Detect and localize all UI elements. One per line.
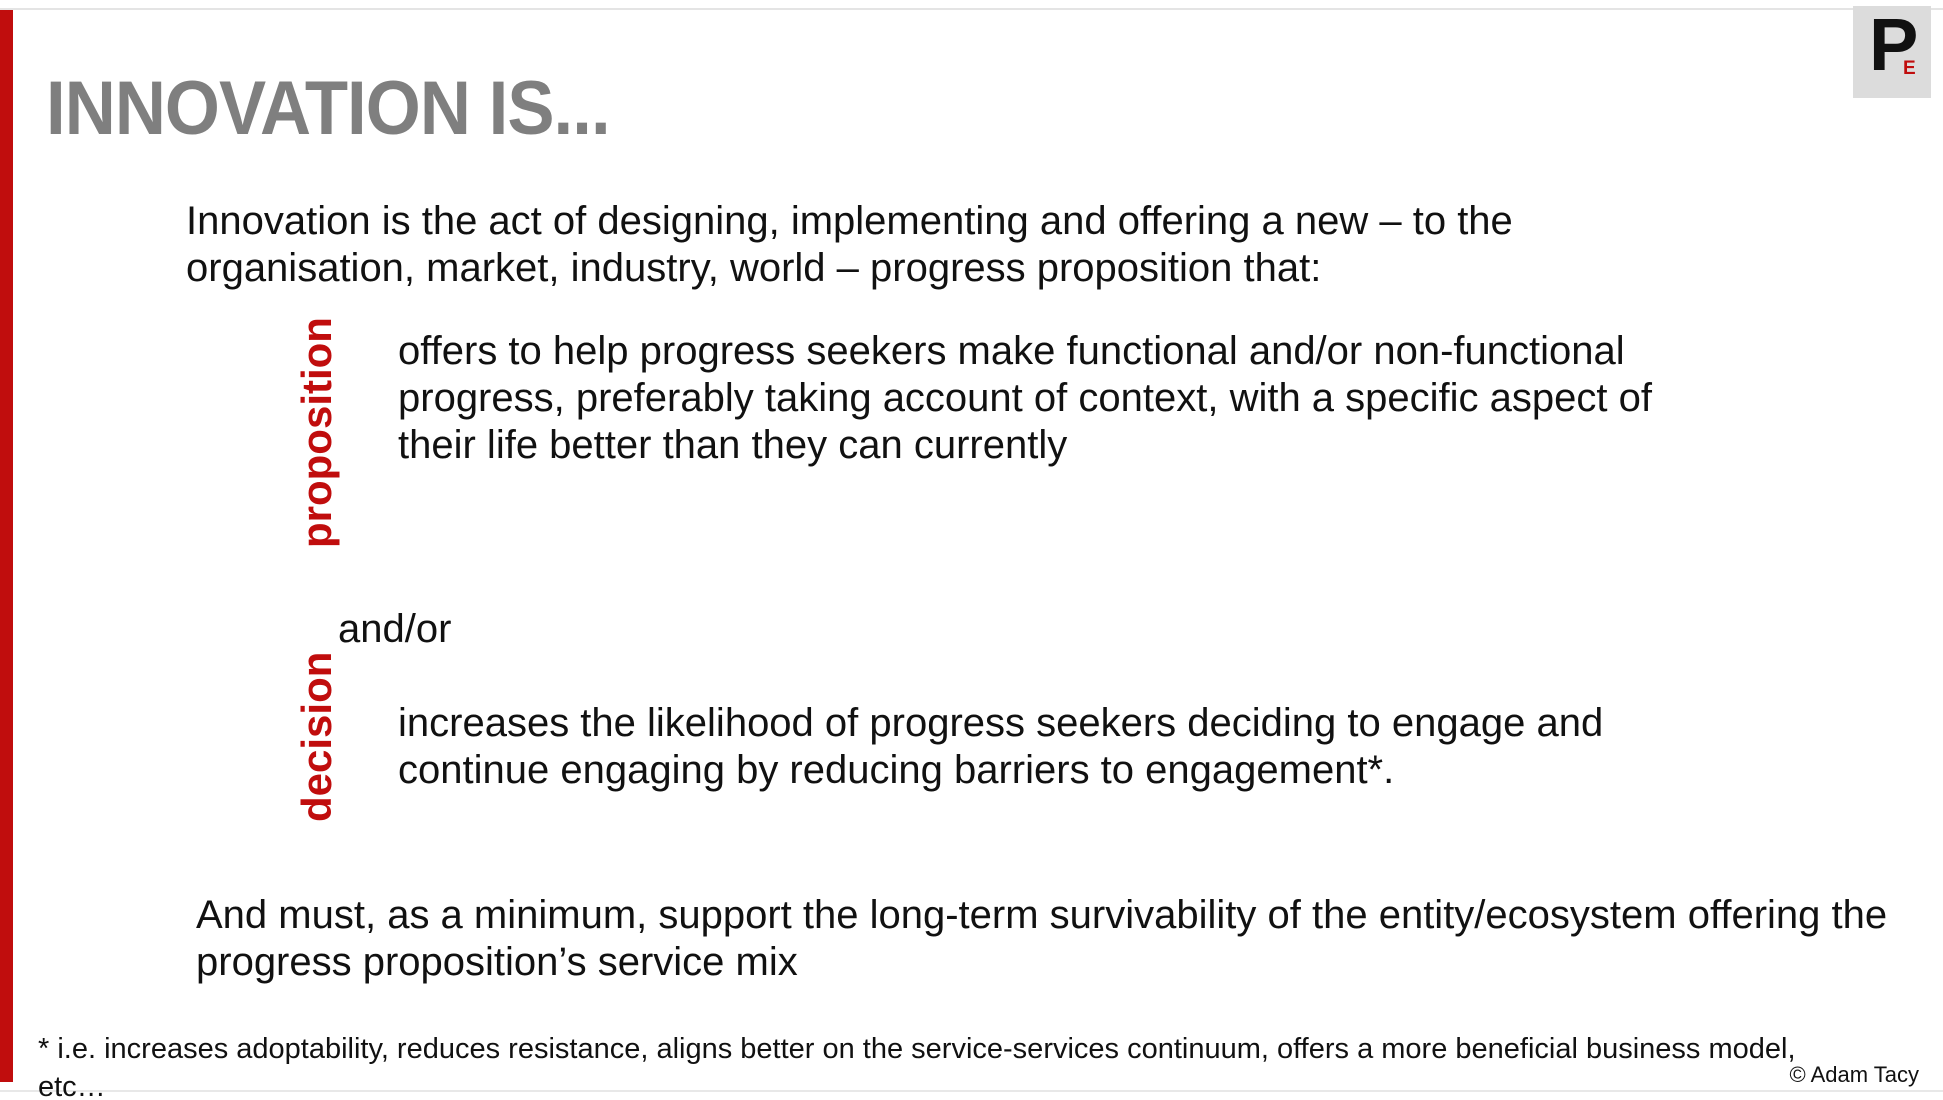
page-title: INNOVATION IS... [46,69,610,149]
connector-text: and/or [338,606,451,653]
decision-text: increases the likelihood of progress see… [398,700,1708,794]
intro-paragraph: Innovation is the act of designing, impl… [186,198,1716,292]
decision-vertical-label: decision [296,652,338,822]
copyright-text: © Adam Tacy [1789,1064,1919,1086]
left-accent-bar [0,10,13,1082]
footnote-text: * i.e. increases adoptability, reduces r… [38,1031,1848,1100]
logo: P E [1853,6,1931,98]
slide: INNOVATION IS... P E Innovation is the a… [0,0,1943,1100]
logo-letter-e: E [1903,59,1916,78]
proposition-text: offers to help progress seekers make fun… [398,328,1708,470]
closing-paragraph: And must, as a minimum, support the long… [196,892,1896,986]
proposition-vertical-label: proposition [296,317,338,548]
